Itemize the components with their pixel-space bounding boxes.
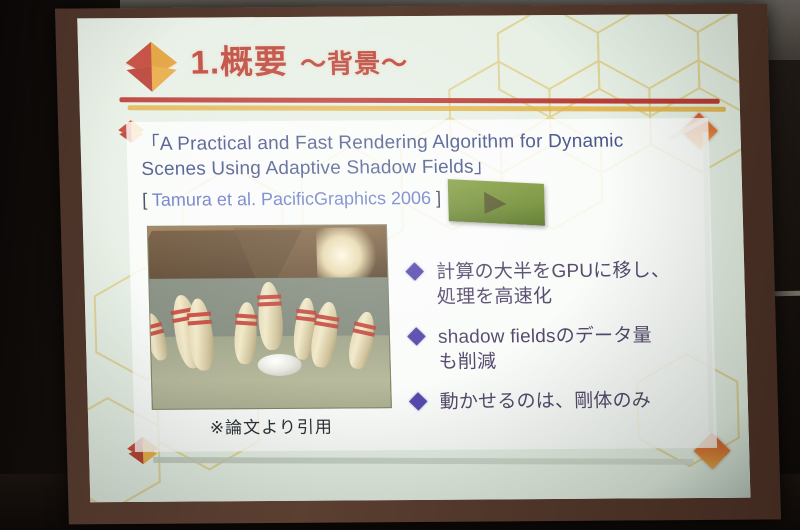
figure-caption: ※論文より引用 bbox=[152, 412, 391, 439]
title-number: 1. bbox=[190, 43, 221, 80]
diamond-bullet-icon bbox=[407, 327, 425, 345]
citation-open: [ bbox=[142, 190, 152, 210]
content-card: 「A Practical and Fast Rendering Algorith… bbox=[126, 118, 717, 452]
citation-close: ] bbox=[431, 188, 442, 208]
diamond-bullet-icon bbox=[409, 392, 427, 410]
page-title: 1.概要～背景～ bbox=[190, 34, 409, 84]
title-rule-gold bbox=[128, 105, 726, 112]
bullet-line-1: 計算の大半をGPUに移し、 bbox=[436, 260, 670, 283]
list-item: shadow fieldsのデータ量 も削減 bbox=[408, 323, 709, 375]
bullet-line-1: 動かせるのは、剛体のみ bbox=[439, 390, 651, 412]
figure-light-glow bbox=[316, 227, 380, 283]
play-button[interactable] bbox=[448, 179, 545, 226]
pyramid-icon bbox=[120, 40, 183, 94]
citation-text: Tamura et al. PacificGraphics 2006 bbox=[152, 188, 432, 210]
paper-title-line-1: 「A Practical and Fast Rendering Algorith… bbox=[140, 128, 701, 157]
list-item: 計算の大半をGPUに移し、 処理を高速化 bbox=[406, 258, 707, 310]
projection-screen: 1.概要～背景～ bbox=[77, 14, 750, 502]
citation: [ Tamura et al. PacificGraphics 2006 ] bbox=[142, 188, 441, 211]
bullet-line-2: も削減 bbox=[438, 351, 496, 372]
bullet-list: 計算の大半をGPUに移し、 処理を高速化 shadow fieldsのデータ量 … bbox=[406, 258, 711, 430]
list-item: 動かせるのは、剛体のみ bbox=[409, 388, 710, 415]
paper-title-line-2: Scenes Using Adaptive Shadow Fields」 bbox=[141, 153, 702, 182]
title-sub: ～背景～ bbox=[300, 48, 409, 79]
title-main: 概要 bbox=[219, 43, 288, 80]
bullet-line-2: 処理を高速化 bbox=[437, 286, 553, 308]
figure-bowling-render bbox=[147, 224, 392, 410]
projection-screen-frame: 1.概要～背景～ bbox=[55, 4, 781, 525]
paper-title: 「A Practical and Fast Rendering Algorith… bbox=[140, 128, 701, 182]
projector-room-photo: 1.概要～背景～ bbox=[0, 0, 800, 530]
slide-header: 1.概要～背景～ bbox=[77, 14, 740, 123]
diamond-bullet-icon bbox=[406, 262, 424, 280]
bullet-line-1: shadow fieldsのデータ量 bbox=[438, 325, 652, 347]
play-icon bbox=[484, 192, 507, 215]
presentation-slide: 1.概要～背景～ bbox=[77, 14, 750, 502]
title-rule-red bbox=[119, 97, 719, 104]
